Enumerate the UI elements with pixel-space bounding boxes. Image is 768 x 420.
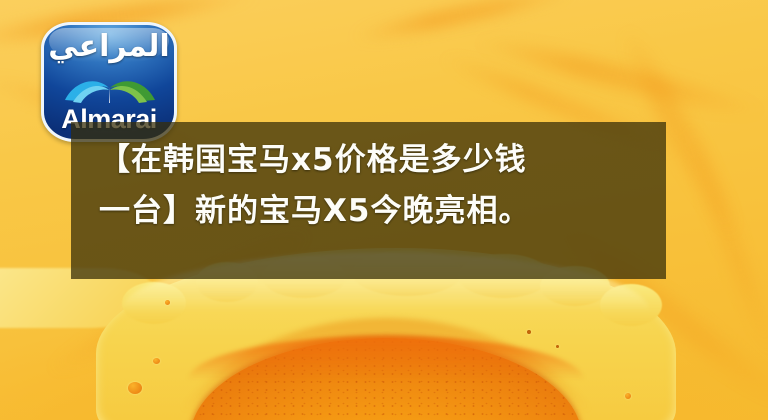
juice-droplet — [556, 345, 559, 348]
juice-droplet — [128, 382, 142, 394]
juice-droplet — [625, 393, 631, 399]
caption-line-2: 一台】新的宝马X5今晚亮相。 — [99, 186, 656, 237]
logo-arabic-wordmark: المراعي — [41, 32, 177, 62]
caption-line-1: 【在韩国宝马x5价格是多少钱 — [99, 135, 656, 186]
juice-droplet — [527, 330, 531, 334]
logo-swoosh-icon — [63, 74, 157, 104]
caption-overlay: 【在韩国宝马x5价格是多少钱 一台】新的宝马X5今晚亮相。 — [71, 122, 666, 279]
thumbnail-image: المراعي Almarai 【在韩国宝马x5价格是多少钱 一台】新的宝马X5… — [0, 0, 768, 420]
juice-droplet — [165, 300, 170, 305]
juice-droplet — [153, 358, 160, 364]
